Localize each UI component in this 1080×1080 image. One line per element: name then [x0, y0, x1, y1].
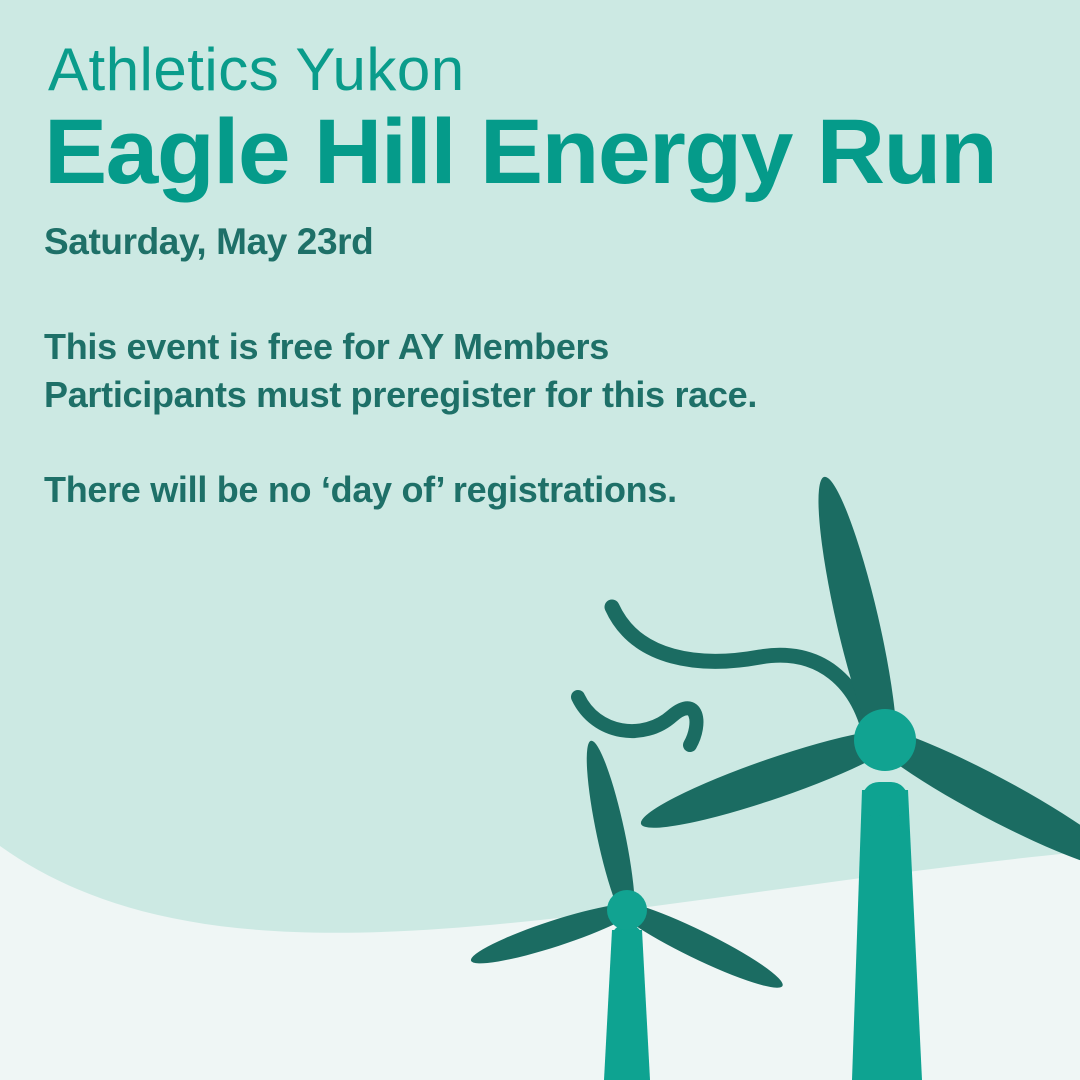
- large-turbine-blades: [635, 472, 1080, 885]
- spacer-after-date: [44, 265, 1054, 323]
- small-turbine-mast: [604, 930, 650, 1080]
- poster-canvas: Athletics Yukon Eagle Hill Energy Run Sa…: [0, 0, 1080, 1080]
- large-wind-turbine: [635, 472, 1080, 1080]
- wind-lines-group: [578, 607, 872, 745]
- info-line-preregister: Participants must preregister for this r…: [44, 371, 1054, 420]
- event-title: Eagle Hill Energy Run: [44, 106, 1080, 200]
- large-turbine-mast: [852, 790, 922, 1080]
- spacer-before-note: [44, 420, 1054, 466]
- info-line-membership: This event is free for AY Members: [44, 323, 1054, 372]
- event-date: Saturday, May 23rd: [44, 222, 1054, 263]
- poster-text-block: Athletics Yukon Eagle Hill Energy Run Sa…: [44, 40, 1054, 515]
- large-turbine-nacelle: [862, 782, 908, 818]
- info-line-no-day-of: There will be no ‘day of’ registrations.: [44, 466, 1054, 515]
- wind-line-lower: [578, 697, 696, 745]
- small-turbine-hub: [607, 890, 647, 930]
- large-turbine-hub: [854, 709, 916, 771]
- organization-name: Athletics Yukon: [48, 40, 1054, 100]
